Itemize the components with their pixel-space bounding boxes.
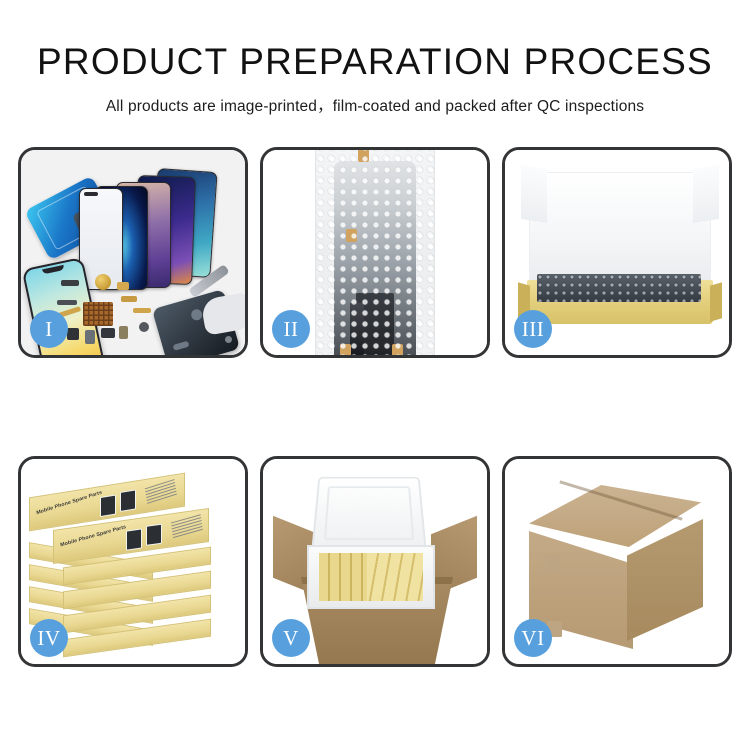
step-badge-6: VI: [514, 619, 552, 657]
process-step-grid: I II I: [18, 147, 732, 667]
tape-tab-top-icon: [358, 150, 369, 162]
process-step-1[interactable]: I: [18, 147, 248, 358]
chip-part-1-icon: [61, 280, 79, 286]
box-window-2b: [146, 524, 162, 546]
box-label-text-1: Mobile Phone Spare Parts: [36, 490, 103, 517]
chip-part-3-icon: [121, 296, 137, 302]
step-badge-4: IV: [30, 619, 68, 657]
step-badge-3: III: [514, 310, 552, 348]
box-window-1a: [100, 495, 116, 518]
chip-part-10-icon: [133, 308, 151, 313]
flex-ribbon-icon: [350, 303, 364, 355]
speaker-component-icon: [95, 274, 111, 290]
chip-part-4-icon: [57, 300, 77, 305]
tape-tab-right-icon: [392, 344, 403, 355]
product-preparation-process-page: PRODUCT PREPARATION PROCESS All products…: [0, 0, 750, 750]
process-step-3[interactable]: III: [502, 147, 732, 358]
process-step-2[interactable]: II: [260, 147, 490, 358]
chip-part-12-icon: [225, 336, 232, 343]
box-label-text-2: Mobile Phone Spare Parts: [60, 524, 127, 548]
chip-part-8-icon: [119, 326, 128, 339]
process-step-4[interactable]: Mobile Phone Spare Parts Mobile Phone Sp…: [18, 456, 248, 667]
bubble-wrapped-contents-icon: [537, 274, 701, 302]
carton-tape-upper-icon: [545, 555, 560, 572]
chip-part-6-icon: [85, 330, 95, 344]
chip-part-7-icon: [101, 328, 115, 338]
step-badge-1: I: [30, 310, 68, 348]
tape-tab-mid-icon: [346, 229, 357, 242]
process-step-6[interactable]: VI: [502, 456, 732, 667]
page-header: PRODUCT PREPARATION PROCESS All products…: [0, 0, 750, 116]
box-spec-lines-1: [145, 479, 177, 506]
grille-component-icon: [83, 302, 113, 326]
box-window-1b: [120, 489, 136, 512]
chip-part-11-icon: [139, 322, 149, 332]
page-subtitle: All products are image-printed，film-coat…: [0, 94, 750, 116]
box-lid-icon: [529, 172, 711, 290]
chip-part-5-icon: [67, 328, 79, 340]
page-title: PRODUCT PREPARATION PROCESS: [0, 43, 750, 82]
tape-tab-left-icon: [340, 344, 351, 355]
chip-part-2-icon: [117, 282, 129, 290]
foam-lid-icon: [311, 477, 427, 552]
box-window-2a: [126, 528, 142, 550]
bubble-bag-icon: [315, 150, 435, 355]
box-spec-lines-2: [171, 514, 203, 540]
lcd-assembly-icon: [334, 161, 416, 355]
step-badge-2: II: [272, 310, 310, 348]
step-badge-5: V: [272, 619, 310, 657]
packed-boxes-row-2: [367, 553, 423, 601]
process-step-5[interactable]: V: [260, 456, 490, 667]
